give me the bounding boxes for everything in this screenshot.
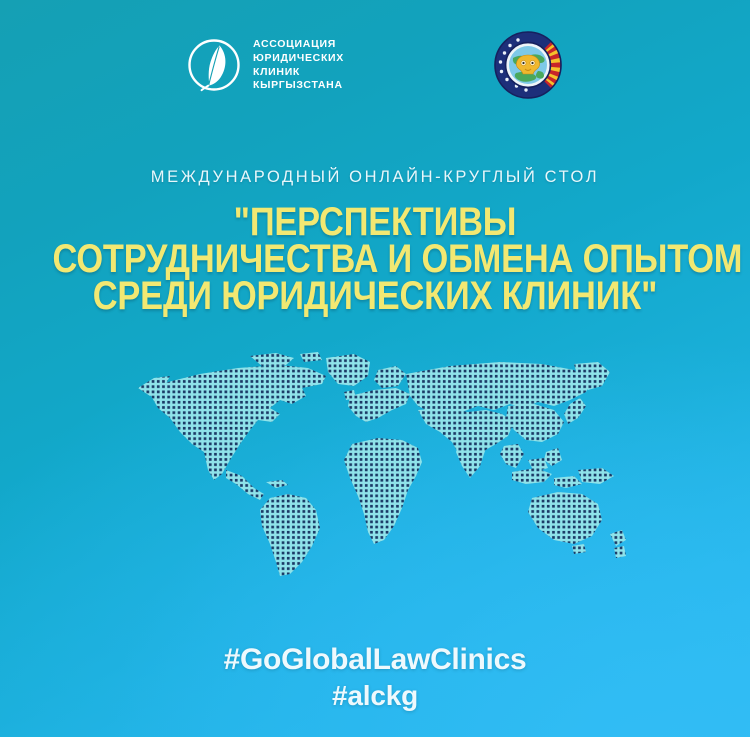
association-logo: АССОЦИАЦИЯ ЮРИДИЧЕСКИХ КЛИНИК КЫРГЫЗСТАН… xyxy=(186,37,344,93)
association-logo-line-4: КЫРГЫЗСТАНА xyxy=(253,79,344,92)
poster-header: АССОЦИАЦИЯ ЮРИДИЧЕСКИХ КЛИНИК КЫРГЫЗСТАН… xyxy=(0,22,750,108)
leaf-in-circle-icon xyxy=(186,37,242,93)
association-logo-line-2: ЮРИДИЧЕСКИХ xyxy=(253,52,344,65)
hashtag-primary: #GoGlobalLawClinics xyxy=(0,641,750,679)
event-title-line-3: СРЕДИ ЮРИДИЧЕСКИХ КЛИНИК" xyxy=(53,278,698,315)
event-title-line-2: СОТРУДНИЧЕСТВА И ОБМЕНА ОПЫТОМ xyxy=(53,241,698,278)
event-subtitle: МЕЖДУНАРОДНЫЙ ОНЛАЙН-КРУГЛЫЙ СТОЛ xyxy=(0,168,750,187)
poster-canvas: АССОЦИАЦИЯ ЮРИДИЧЕСКИХ КЛИНИК КЫРГЫЗСТАН… xyxy=(0,0,750,737)
event-title-line-1: "ПЕРСПЕКТИВЫ xyxy=(53,204,698,241)
association-logo-text: АССОЦИАЦИЯ ЮРИДИЧЕСКИХ КЛИНИК КЫРГЫЗСТАН… xyxy=(253,38,344,91)
association-logo-line-1: АССОЦИАЦИЯ xyxy=(253,38,344,51)
association-logo-line-3: КЛИНИК xyxy=(253,66,344,79)
halftone-world-map-icon xyxy=(130,348,630,580)
hashtag-block: #GoGlobalLawClinics #alckg xyxy=(0,641,750,713)
hashtag-secondary: #alckg xyxy=(0,679,750,713)
event-title: "ПЕРСПЕКТИВЫ СОТРУДНИЧЕСТВА И ОБМЕНА ОПЫ… xyxy=(53,204,698,315)
circular-emblem-seal-icon xyxy=(492,29,564,101)
